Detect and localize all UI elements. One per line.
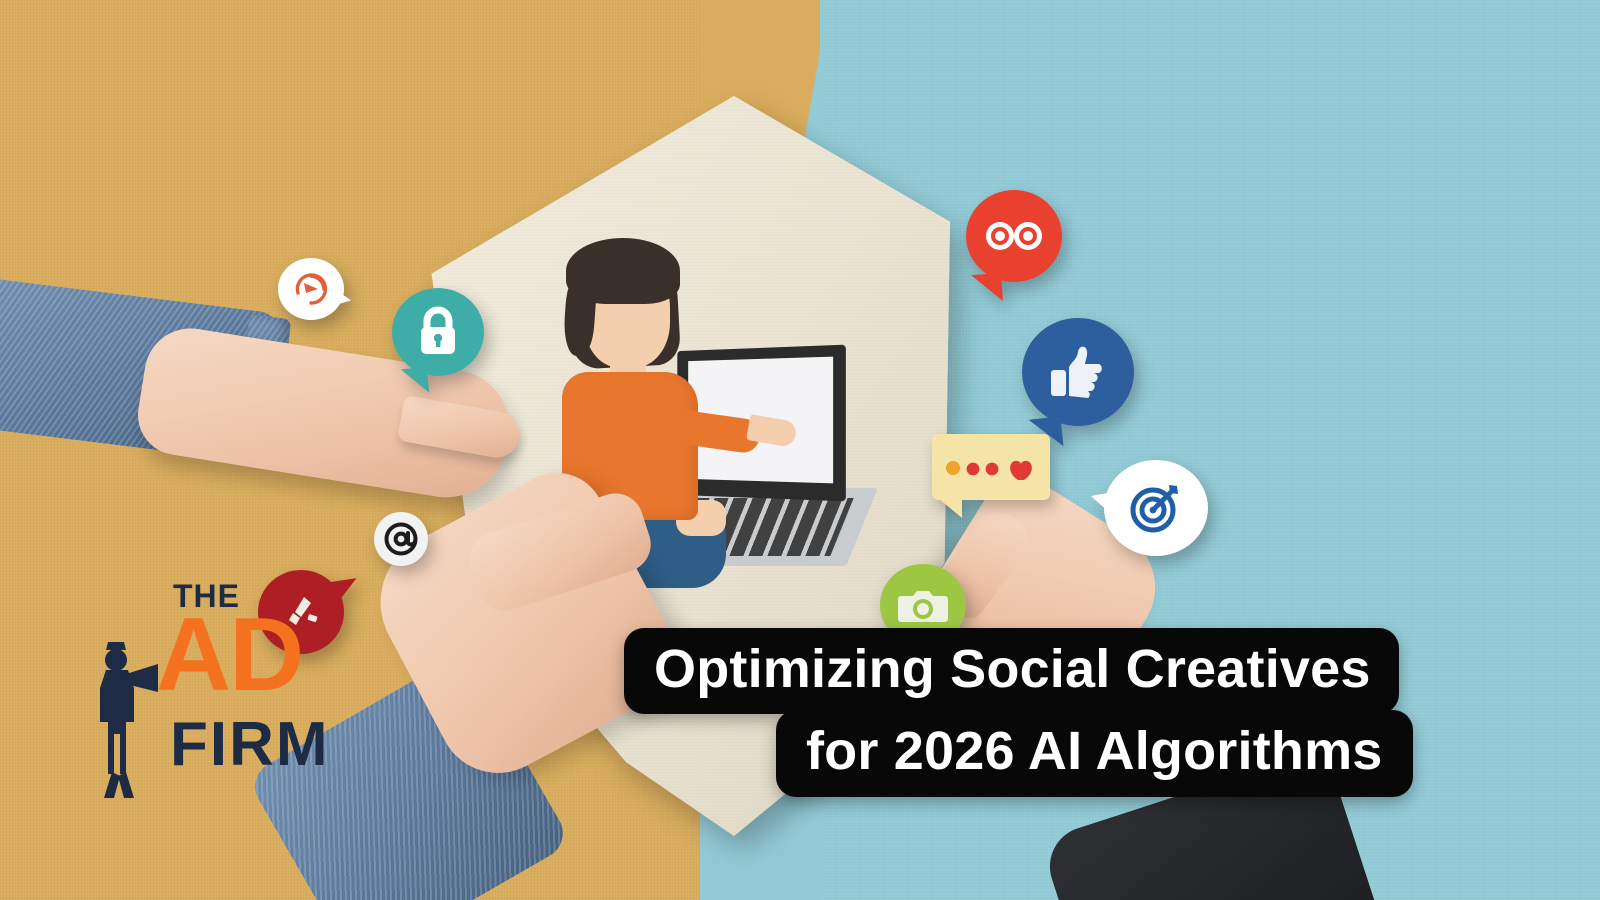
- logo-text-ad: AD: [156, 608, 302, 704]
- at-sign-icon: [382, 520, 420, 558]
- lock-icon: [412, 304, 464, 360]
- camera-icon: [898, 585, 948, 625]
- the-ad-firm-logo[interactable]: THE AD FIRM: [78, 572, 338, 812]
- refresh-share-bubble: [278, 258, 344, 320]
- typing-dots-heart-icon: [943, 452, 1039, 482]
- targeting-bubble: [1104, 460, 1208, 556]
- blog-hero-banner: THE AD FIRM Optimizing Social Creatives …: [0, 0, 1600, 900]
- headline: Optimizing Social Creatives for 2026 AI …: [624, 628, 1514, 797]
- email-sticker: [374, 512, 428, 566]
- headline-line-1: Optimizing Social Creatives: [624, 628, 1399, 714]
- logo-text-firm: FIRM: [170, 714, 330, 776]
- surprised-face-bubble: [966, 190, 1062, 282]
- comment-bubble: [932, 434, 1050, 500]
- thumbs-up-icon: [1047, 342, 1109, 402]
- refresh-arrow-icon: [291, 269, 331, 309]
- target-dart-icon: [1127, 480, 1185, 536]
- megaphone-man-silhouette: [86, 630, 162, 810]
- headline-line-2: for 2026 AI Algorithms: [776, 710, 1413, 798]
- like-bubble: [1022, 318, 1134, 426]
- privacy-bubble: [392, 288, 484, 376]
- wide-eyes-icon: [983, 218, 1045, 254]
